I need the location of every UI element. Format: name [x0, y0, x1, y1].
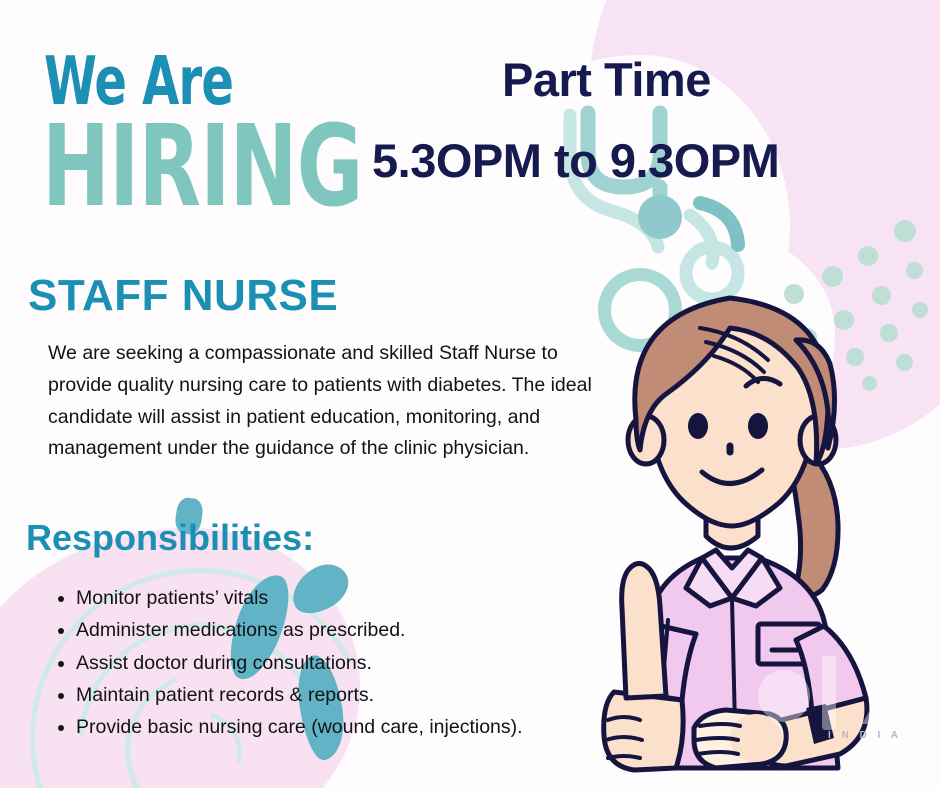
responsibilities-title: Responsibilities: — [26, 517, 314, 559]
watermark-label: I N D I A — [828, 730, 902, 741]
hiring-poster: We Are HIRING Part Time 5.3OPM to 9.3OPM… — [0, 0, 940, 788]
schedule-time: 5.3OPM to 9.3OPM — [372, 133, 779, 188]
olx-watermark — [752, 650, 932, 760]
schedule-label: Part Time — [502, 52, 711, 107]
role-title: STAFF NURSE — [28, 271, 338, 321]
job-description: We are seeking a compassionate and skill… — [48, 338, 618, 465]
headline-hiring: HIRING — [42, 110, 363, 222]
